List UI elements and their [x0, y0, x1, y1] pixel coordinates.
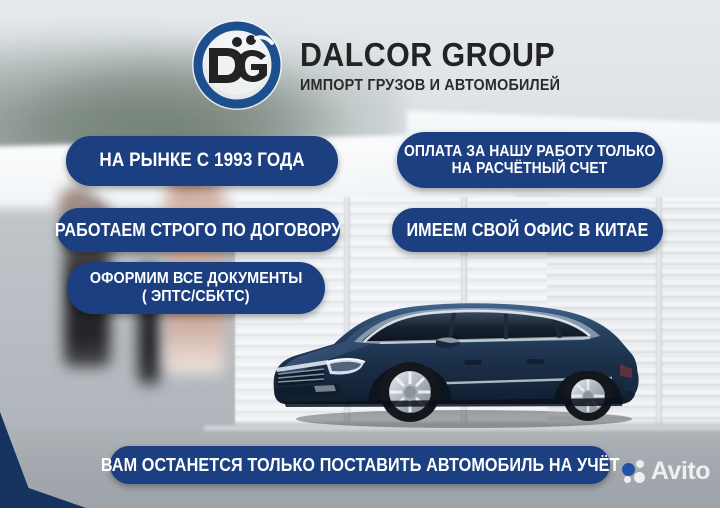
brand-subtitle: ИМПОРТ ГРУЗОВ И АВТОМОБИЛЕЙ [300, 78, 560, 94]
avito-label: Avito [651, 459, 710, 484]
car-photo-subject [268, 286, 640, 428]
badge-line: ИМЕЕМ СВОЙ ОФИС В КИТАЕ [407, 220, 649, 240]
badge-work-by-contract: РАБОТАЕМ СТРОГО ПО ДОГОВОРУ [57, 208, 340, 252]
promo-banner-image: DALCOR GROUP ИМПОРТ ГРУЗОВ И АВТОМОБИЛЕЙ… [0, 0, 720, 508]
badge-payment-terms: ОПЛАТА ЗА НАШУ РАБОТУ ТОЛЬКО НА РАСЧЁТНЫ… [397, 132, 663, 188]
badge-years-on-market: НА РЫНКЕ С 1993 ГОДА [66, 136, 338, 186]
page-title: DALCOR GROUP [300, 38, 566, 71]
avito-watermark: Avito [622, 459, 710, 484]
badge-line: ОФОРМИМ ВСЕ ДОКУМЕНТЫ [90, 270, 303, 288]
badge-line: ОПЛАТА ЗА НАШУ РАБОТУ ТОЛЬКО [404, 143, 656, 160]
badge-bottom-banner: ВАМ ОСТАНЕТСЯ ТОЛЬКО ПОСТАВИТЬ АВТОМОБИЛ… [110, 446, 610, 484]
badge-documents: ОФОРМИМ ВСЕ ДОКУМЕНТЫ ( ЭПТС/СБКТС) [67, 262, 325, 314]
badge-line: ( ЭПТС/СБКТС) [142, 288, 250, 306]
dg-monogram-circle-logo [190, 18, 284, 112]
badge-office-in-china: ИМЕЕМ СВОЙ ОФИС В КИТАЕ [392, 208, 663, 252]
badge-line: РАБОТАЕМ СТРОГО ПО ДОГОВОРУ [55, 220, 342, 240]
badge-line: ВАМ ОСТАНЕТСЯ ТОЛЬКО ПОСТАВИТЬ АВТОМОБИЛ… [101, 455, 620, 475]
brand-header: DALCOR GROUP ИМПОРТ ГРУЗОВ И АВТОМОБИЛЕЙ [190, 18, 589, 112]
badge-line: НА РАСЧЁТНЫЙ СЧЕТ [452, 160, 608, 177]
avito-circles-icon [622, 460, 646, 484]
brand-text-block: DALCOR GROUP ИМПОРТ ГРУЗОВ И АВТОМОБИЛЕЙ [300, 36, 589, 94]
badge-line: НА РЫНКЕ С 1993 ГОДА [99, 150, 304, 171]
